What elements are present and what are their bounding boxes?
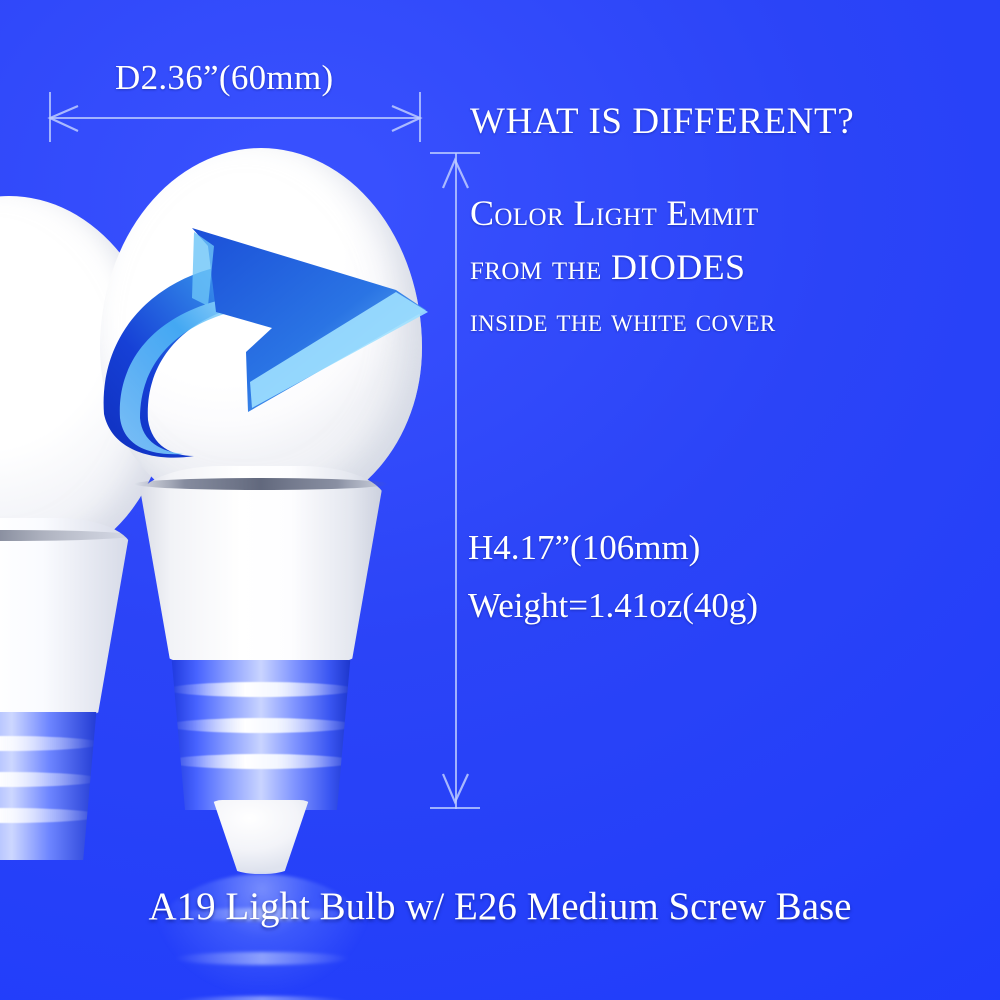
width-dimension-label: D2.36”(60mm) [115,58,333,98]
screw-thread [166,718,356,733]
screw-thread [166,754,356,769]
bulb-neck [136,466,386,666]
callout-feature-line-1: Color Light Emmit [470,192,759,234]
height-dimension-label: H4.17”(106mm) [468,528,700,568]
screw-thread [0,772,102,787]
screw-thread [166,682,356,697]
screw-thread [0,736,102,751]
callout-feature-line-2: from the DIODES [470,246,745,288]
height-dimension-line [455,153,457,809]
callout-headline: WHAT IS DIFFERENT? [470,100,854,143]
arrow-left-icon [44,104,80,134]
width-dimension-line [50,117,420,119]
product-infographic: D2.36”(60mm) H4.17”(106mm) Weight=1.41oz… [0,0,1000,1000]
arrow-up-icon [441,154,471,190]
arrow-right-icon [390,104,426,134]
bulb-seam [134,478,388,490]
screw-thread [0,808,102,823]
weight-label: Weight=1.41oz(40g) [468,586,758,626]
bulb-screw-base [0,712,102,860]
reflection-band [174,952,350,965]
bulb-screw-base [166,660,356,810]
bulb-base-tip [204,800,318,874]
callout-feature-line-3: inside the white cover [470,303,776,340]
curved-arrow-icon [96,206,456,466]
product-caption: A19 Light Bulb w/ E26 Medium Screw Base [0,884,1000,929]
arrow-down-icon [441,772,471,808]
reflection-band [174,996,350,1000]
